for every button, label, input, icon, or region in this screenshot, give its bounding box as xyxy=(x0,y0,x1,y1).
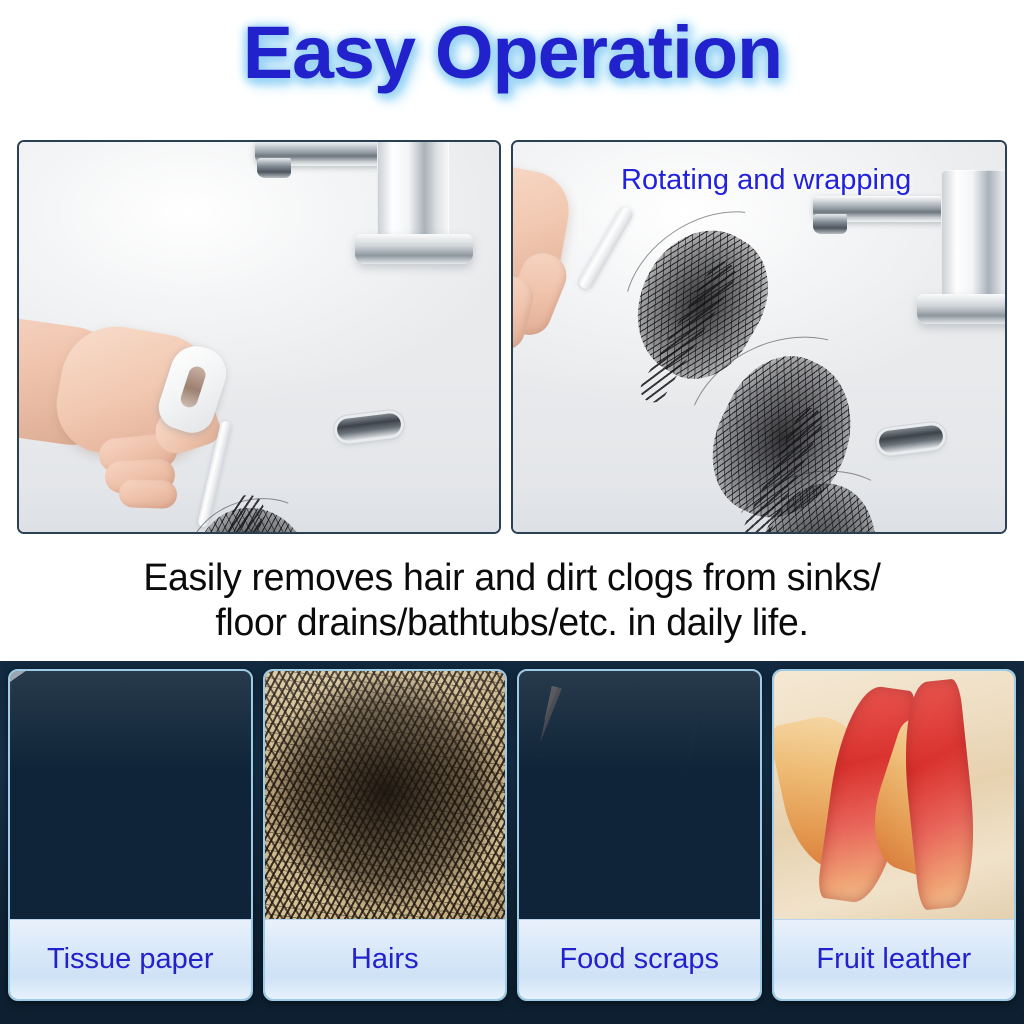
clog-card-fruit-leather[interactable]: Fruit leather xyxy=(772,669,1017,1001)
demo-panel-insert xyxy=(17,140,501,534)
title-banner: Easy Operation xyxy=(0,16,1024,90)
faucet-spout-tip xyxy=(257,158,291,178)
demo-panel-rotate: Rotating and wrapping xyxy=(511,140,1007,534)
product-description: Easily removes hair and dirt clogs from … xyxy=(8,556,1017,646)
demo-panels: Rotating and wrapping xyxy=(17,140,1007,534)
faucet-spout-tip xyxy=(813,214,847,234)
clog-card-food-scraps[interactable]: Food scraps xyxy=(517,669,762,1001)
faucet xyxy=(255,140,495,298)
clog-label-food-scraps: Food scraps xyxy=(519,919,760,999)
description-line-2: floor drains/bathtubs/etc. in daily life… xyxy=(8,601,1017,646)
hand-holding-tool xyxy=(17,310,273,530)
clog-label-tissue-paper: Tissue paper xyxy=(10,919,251,999)
clog-label-hairs: Hairs xyxy=(265,919,506,999)
tissue-paper-image xyxy=(10,671,251,923)
panel-caption-rotate: Rotating and wrapping xyxy=(621,164,911,197)
faucet-column xyxy=(377,140,449,244)
hairs-photo xyxy=(265,671,506,923)
product-infographic: Easy Operation xyxy=(0,0,1024,1024)
finger-ring xyxy=(119,479,178,509)
page-title: Easy Operation xyxy=(242,16,781,90)
description-line-1: Easily removes hair and dirt clogs from … xyxy=(8,556,1017,601)
fruit-leather-photo xyxy=(774,671,1015,923)
fingers-holding-tool xyxy=(511,166,633,356)
tissue-paper-photo xyxy=(10,671,251,923)
faucet-base xyxy=(917,294,1007,324)
hairs-image xyxy=(265,671,506,923)
clog-card-hairs[interactable]: Hairs xyxy=(263,669,508,1001)
food-scraps-photo xyxy=(519,671,760,923)
clog-types-list: Tissue paper Hairs Food scraps xyxy=(8,669,1016,1001)
clog-types-band: Tissue paper Hairs Food scraps xyxy=(0,661,1024,1024)
clog-label-fruit-leather: Fruit leather xyxy=(774,919,1015,999)
clog-card-tissue-paper[interactable]: Tissue paper xyxy=(8,669,253,1001)
faucet-column xyxy=(941,170,1007,302)
faucet-base xyxy=(355,234,473,264)
